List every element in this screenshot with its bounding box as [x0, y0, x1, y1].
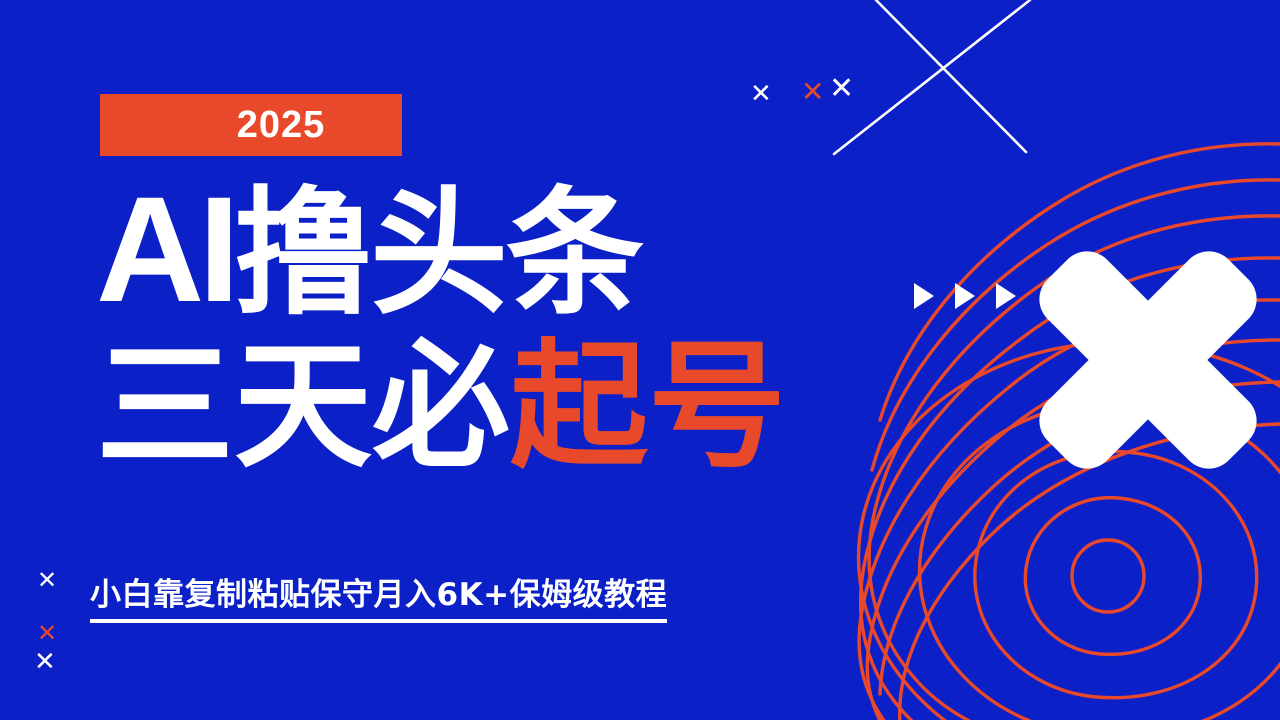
headline-line-2: 三天必起号	[96, 339, 896, 475]
thin-cross-icon	[834, 0, 1030, 154]
x-mark-icon-left-1: ✕	[37, 569, 57, 593]
headline-cn-part: 撸头条	[234, 173, 642, 334]
x-mark-icon-left-3: ✕	[34, 648, 56, 674]
x-mark-icon-top-3: ✕	[829, 74, 854, 104]
big-x-logo-icon	[967, 179, 1280, 541]
headline-line2-white: 三天必	[96, 326, 510, 487]
x-mark-icon-left-2: ✕	[37, 622, 57, 646]
contour-lines-group	[859, 144, 1280, 720]
arrow-triangles-group	[914, 283, 1016, 309]
x-mark-icon-top-2: ✕	[801, 78, 824, 106]
year-badge: 2025	[100, 94, 402, 156]
headline-latin-ai: AI	[96, 165, 234, 333]
subtitle-text: 小白靠复制粘贴保守月入6K+保姆级教程	[90, 578, 667, 623]
headline-block: AI撸头条 三天必起号	[96, 176, 896, 475]
x-mark-icon-top-1: ✕	[750, 80, 772, 106]
headline-line2-accent: 起号	[510, 326, 786, 487]
headline-line-1: AI撸头条	[96, 176, 896, 323]
poster-canvas: ✕ ✕ ✕ ✕ ✕ ✕ 2025 AI撸头条 三天必起号 小白靠复制粘贴保守月入…	[0, 0, 1280, 720]
year-badge-label: 2025	[237, 106, 326, 144]
